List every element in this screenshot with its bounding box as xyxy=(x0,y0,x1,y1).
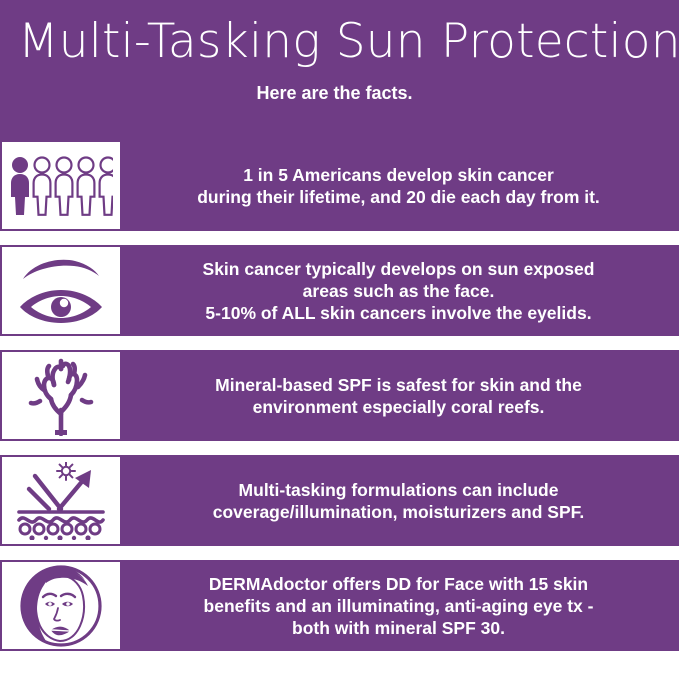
sun-ray-skin-icon xyxy=(13,462,109,540)
icon-box xyxy=(0,560,122,651)
fact-line: Mineral-based SPF is safest for skin and… xyxy=(132,374,665,396)
facts-list: 1 in 5 Americans develop skin cancer dur… xyxy=(0,140,679,651)
icon-box xyxy=(0,245,122,336)
fact-text: Skin cancer typically develops on sun ex… xyxy=(122,245,679,336)
fact-text: Mineral-based SPF is safest for skin and… xyxy=(122,350,679,441)
page-subtitle: Here are the facts. xyxy=(0,82,679,104)
five-people-icon xyxy=(9,155,113,217)
fact-row: Multi-tasking formulations can include c… xyxy=(0,455,679,546)
icon-box xyxy=(0,350,122,441)
woman-face-icon xyxy=(18,564,104,648)
fact-text: DERMAdoctor offers DD for Face with 15 s… xyxy=(122,560,679,651)
fact-line: areas such as the face. xyxy=(132,280,665,302)
fact-line: environment especially coral reefs. xyxy=(132,396,665,418)
fact-line: Skin cancer typically develops on sun ex… xyxy=(132,258,665,280)
fact-line: 5-10% of ALL skin cancers involve the ey… xyxy=(132,302,665,324)
fact-line: DERMAdoctor offers DD for Face with 15 s… xyxy=(132,573,665,595)
fact-text: 1 in 5 Americans develop skin cancer dur… xyxy=(122,140,679,231)
header-banner: Multi-Tasking Sun Protection? Here are t… xyxy=(0,0,679,140)
fact-row: DERMAdoctor offers DD for Face with 15 s… xyxy=(0,560,679,651)
fact-row: 1 in 5 Americans develop skin cancer dur… xyxy=(0,140,679,231)
fact-line: both with mineral SPF 30. xyxy=(132,617,665,639)
sun-protection-infographic: Multi-Tasking Sun Protection? Here are t… xyxy=(0,0,679,680)
icon-box xyxy=(0,140,122,231)
icon-box xyxy=(0,455,122,546)
fact-text: Multi-tasking formulations can include c… xyxy=(122,455,679,546)
fact-line: benefits and an illuminating, anti-aging… xyxy=(132,595,665,617)
eye-icon xyxy=(13,257,109,325)
coral-icon xyxy=(24,356,98,436)
fact-line: 1 in 5 Americans develop skin cancer xyxy=(132,164,665,186)
fact-line: Multi-tasking formulations can include xyxy=(132,479,665,501)
fact-line: coverage/illumination, moisturizers and … xyxy=(132,501,665,523)
fact-row: Skin cancer typically develops on sun ex… xyxy=(0,245,679,336)
page-title: Multi-Tasking Sun Protection? xyxy=(0,14,679,70)
fact-row: Mineral-based SPF is safest for skin and… xyxy=(0,350,679,441)
fact-line: during their lifetime, and 20 die each d… xyxy=(132,186,665,208)
